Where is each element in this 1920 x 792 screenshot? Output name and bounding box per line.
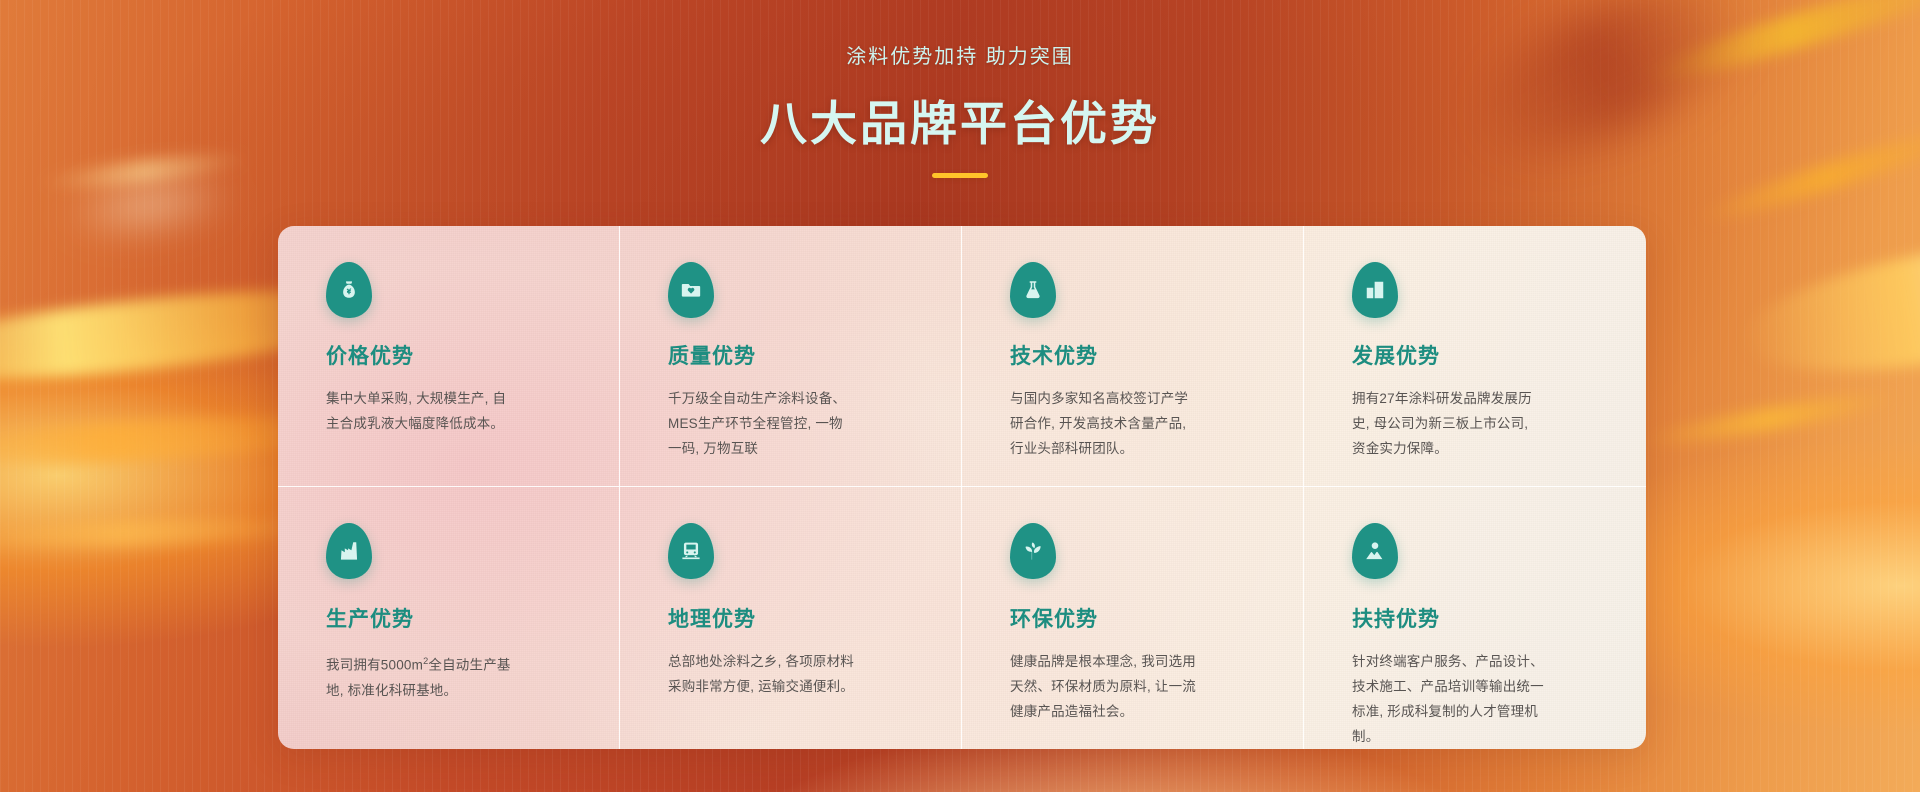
advantage-card[interactable]: 地理优势 总部地处涂料之乡, 各项原材料采购非常方便, 运输交通便利。 xyxy=(620,487,962,749)
advantages-panel: 价格优势 集中大单采购, 大规模生产, 自主合成乳液大幅度降低成本。 质量优势 … xyxy=(278,226,1646,749)
advantage-desc: 针对终端客户服务、产品设计、技术施工、产品培训等输出统一标准, 形成科复制的人才… xyxy=(1352,649,1552,749)
factory-icon xyxy=(326,523,372,579)
light-streak xyxy=(1734,214,1920,395)
advantage-title: 发展优势 xyxy=(1352,340,1602,370)
advantage-title: 价格优势 xyxy=(326,340,576,370)
folder-heart-icon xyxy=(668,262,714,318)
advantage-card[interactable]: 扶持优势 针对终端客户服务、产品设计、技术施工、产品培训等输出统一标准, 形成科… xyxy=(1304,487,1646,749)
person-support-icon xyxy=(1352,523,1398,579)
advantage-title: 地理优势 xyxy=(668,603,918,633)
advantage-title: 质量优势 xyxy=(668,340,918,370)
advantages-grid: 价格优势 集中大单采购, 大规模生产, 自主合成乳液大幅度降低成本。 质量优势 … xyxy=(278,226,1646,749)
page-background: 涂料优势加持 助力突围 八大品牌平台优势 价格优势 集中大单采购, 大规模生产,… xyxy=(0,0,1920,792)
sprout-icon xyxy=(1010,523,1056,579)
train-icon xyxy=(668,523,714,579)
advantage-title: 技术优势 xyxy=(1010,340,1260,370)
advantage-title: 生产优势 xyxy=(326,603,576,633)
advantage-title: 环保优势 xyxy=(1010,603,1260,633)
section-title: 八大品牌平台优势 xyxy=(0,85,1920,154)
money-bag-icon xyxy=(326,262,372,318)
flask-icon xyxy=(1010,262,1056,318)
advantage-card[interactable]: 价格优势 集中大单采购, 大规模生产, 自主合成乳液大幅度降低成本。 xyxy=(278,226,620,487)
advantage-desc: 集中大单采购, 大规模生产, 自主合成乳液大幅度降低成本。 xyxy=(326,386,511,436)
light-streak xyxy=(0,514,320,553)
title-divider xyxy=(932,173,988,178)
section-header: 涂料优势加持 助力突围 八大品牌平台优势 xyxy=(0,0,1920,178)
advantage-desc: 拥有27年涂料研发品牌发展历史, 母公司为新三板上市公司, 资金实力保障。 xyxy=(1352,386,1537,461)
advantage-desc: 总部地处涂料之乡, 各项原材料采购非常方便, 运输交通便利。 xyxy=(668,649,860,699)
advantage-card[interactable]: 生产优势 我司拥有5000m2全自动生产基地, 标准化科研基地。 xyxy=(278,487,620,749)
advantage-card[interactable]: 发展优势 拥有27年涂料研发品牌发展历史, 母公司为新三板上市公司, 资金实力保… xyxy=(1304,226,1646,487)
building-icon xyxy=(1352,262,1398,318)
advantage-desc: 我司拥有5000m2全自动生产基地, 标准化科研基地。 xyxy=(326,649,518,703)
section-subtitle: 涂料优势加持 助力突围 xyxy=(0,40,1920,69)
advantage-card[interactable]: 质量优势 千万级全自动生产涂料设备、MES生产环节全程管控, 一物一码, 万物互… xyxy=(620,226,962,487)
advantage-desc: 健康品牌是根本理念, 我司选用天然、环保材质为原料, 让一流健康产品造福社会。 xyxy=(1010,649,1198,724)
advantage-card[interactable]: 技术优势 与国内多家知名高校签订产学研合作, 开发高技术含量产品, 行业头部科研… xyxy=(962,226,1304,487)
advantage-desc: 千万级全自动生产涂料设备、MES生产环节全程管控, 一物一码, 万物互联 xyxy=(668,386,853,461)
advantage-desc: 与国内多家知名高校签订产学研合作, 开发高技术含量产品, 行业头部科研团队。 xyxy=(1010,386,1192,461)
advantage-title: 扶持优势 xyxy=(1352,603,1602,633)
advantage-card[interactable]: 环保优势 健康品牌是根本理念, 我司选用天然、环保材质为原料, 让一流健康产品造… xyxy=(962,487,1304,749)
light-streak xyxy=(1640,386,1900,453)
